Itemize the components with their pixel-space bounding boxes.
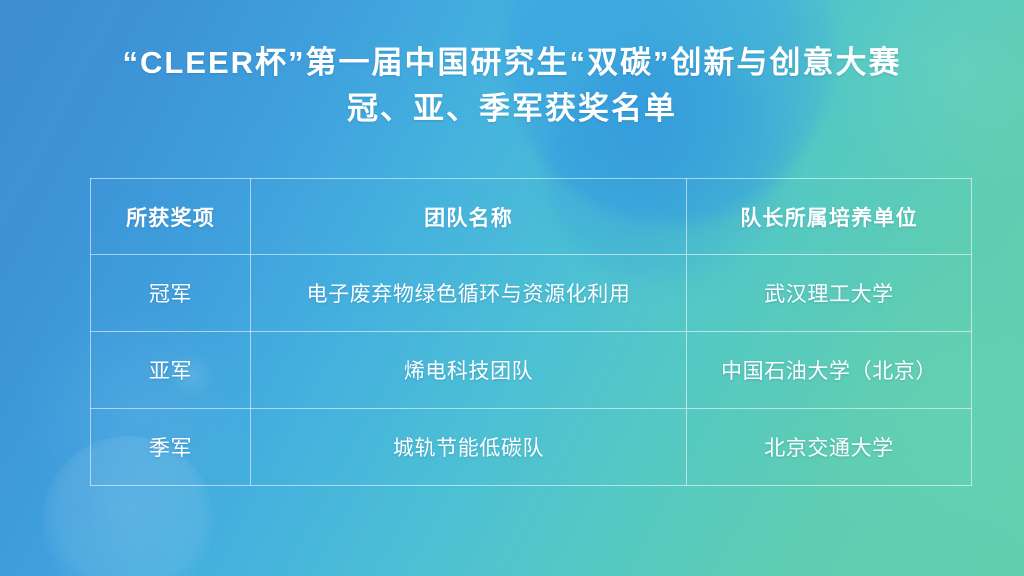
award-table: 所获奖项 团队名称 队长所属培养单位 冠军 电子废弃物绿色循环与资源化利用 武汉… <box>90 178 972 486</box>
presentation-slide: “CLEER杯”第一届中国研究生“双碳”创新与创意大赛 冠、亚、季军获奖名单 所… <box>0 0 1024 576</box>
table-header-row: 所获奖项 团队名称 队长所属培养单位 <box>91 179 972 255</box>
cell-unit: 北京交通大学 <box>687 409 972 486</box>
cell-unit: 中国石油大学（北京） <box>687 332 972 409</box>
table-header-award: 所获奖项 <box>91 179 251 255</box>
cell-team: 烯电科技团队 <box>251 332 687 409</box>
title-line-1: “CLEER杯”第一届中国研究生“双碳”创新与创意大赛 <box>0 40 1024 86</box>
table-row: 冠军 电子废弃物绿色循环与资源化利用 武汉理工大学 <box>91 255 972 332</box>
table-header-unit: 队长所属培养单位 <box>687 179 972 255</box>
table-row: 季军 城轨节能低碳队 北京交通大学 <box>91 409 972 486</box>
cell-team: 电子废弃物绿色循环与资源化利用 <box>251 255 687 332</box>
slide-title: “CLEER杯”第一届中国研究生“双碳”创新与创意大赛 冠、亚、季军获奖名单 <box>0 40 1024 132</box>
cell-unit: 武汉理工大学 <box>687 255 972 332</box>
table-body: 冠军 电子废弃物绿色循环与资源化利用 武汉理工大学 亚军 烯电科技团队 中国石油… <box>91 255 972 486</box>
title-line-2: 冠、亚、季军获奖名单 <box>0 86 1024 132</box>
table-header: 所获奖项 团队名称 队长所属培养单位 <box>91 179 972 255</box>
cell-award: 季军 <box>91 409 251 486</box>
table-row: 亚军 烯电科技团队 中国石油大学（北京） <box>91 332 972 409</box>
cell-award: 冠军 <box>91 255 251 332</box>
cell-award: 亚军 <box>91 332 251 409</box>
table-header-team: 团队名称 <box>251 179 687 255</box>
cell-team: 城轨节能低碳队 <box>251 409 687 486</box>
